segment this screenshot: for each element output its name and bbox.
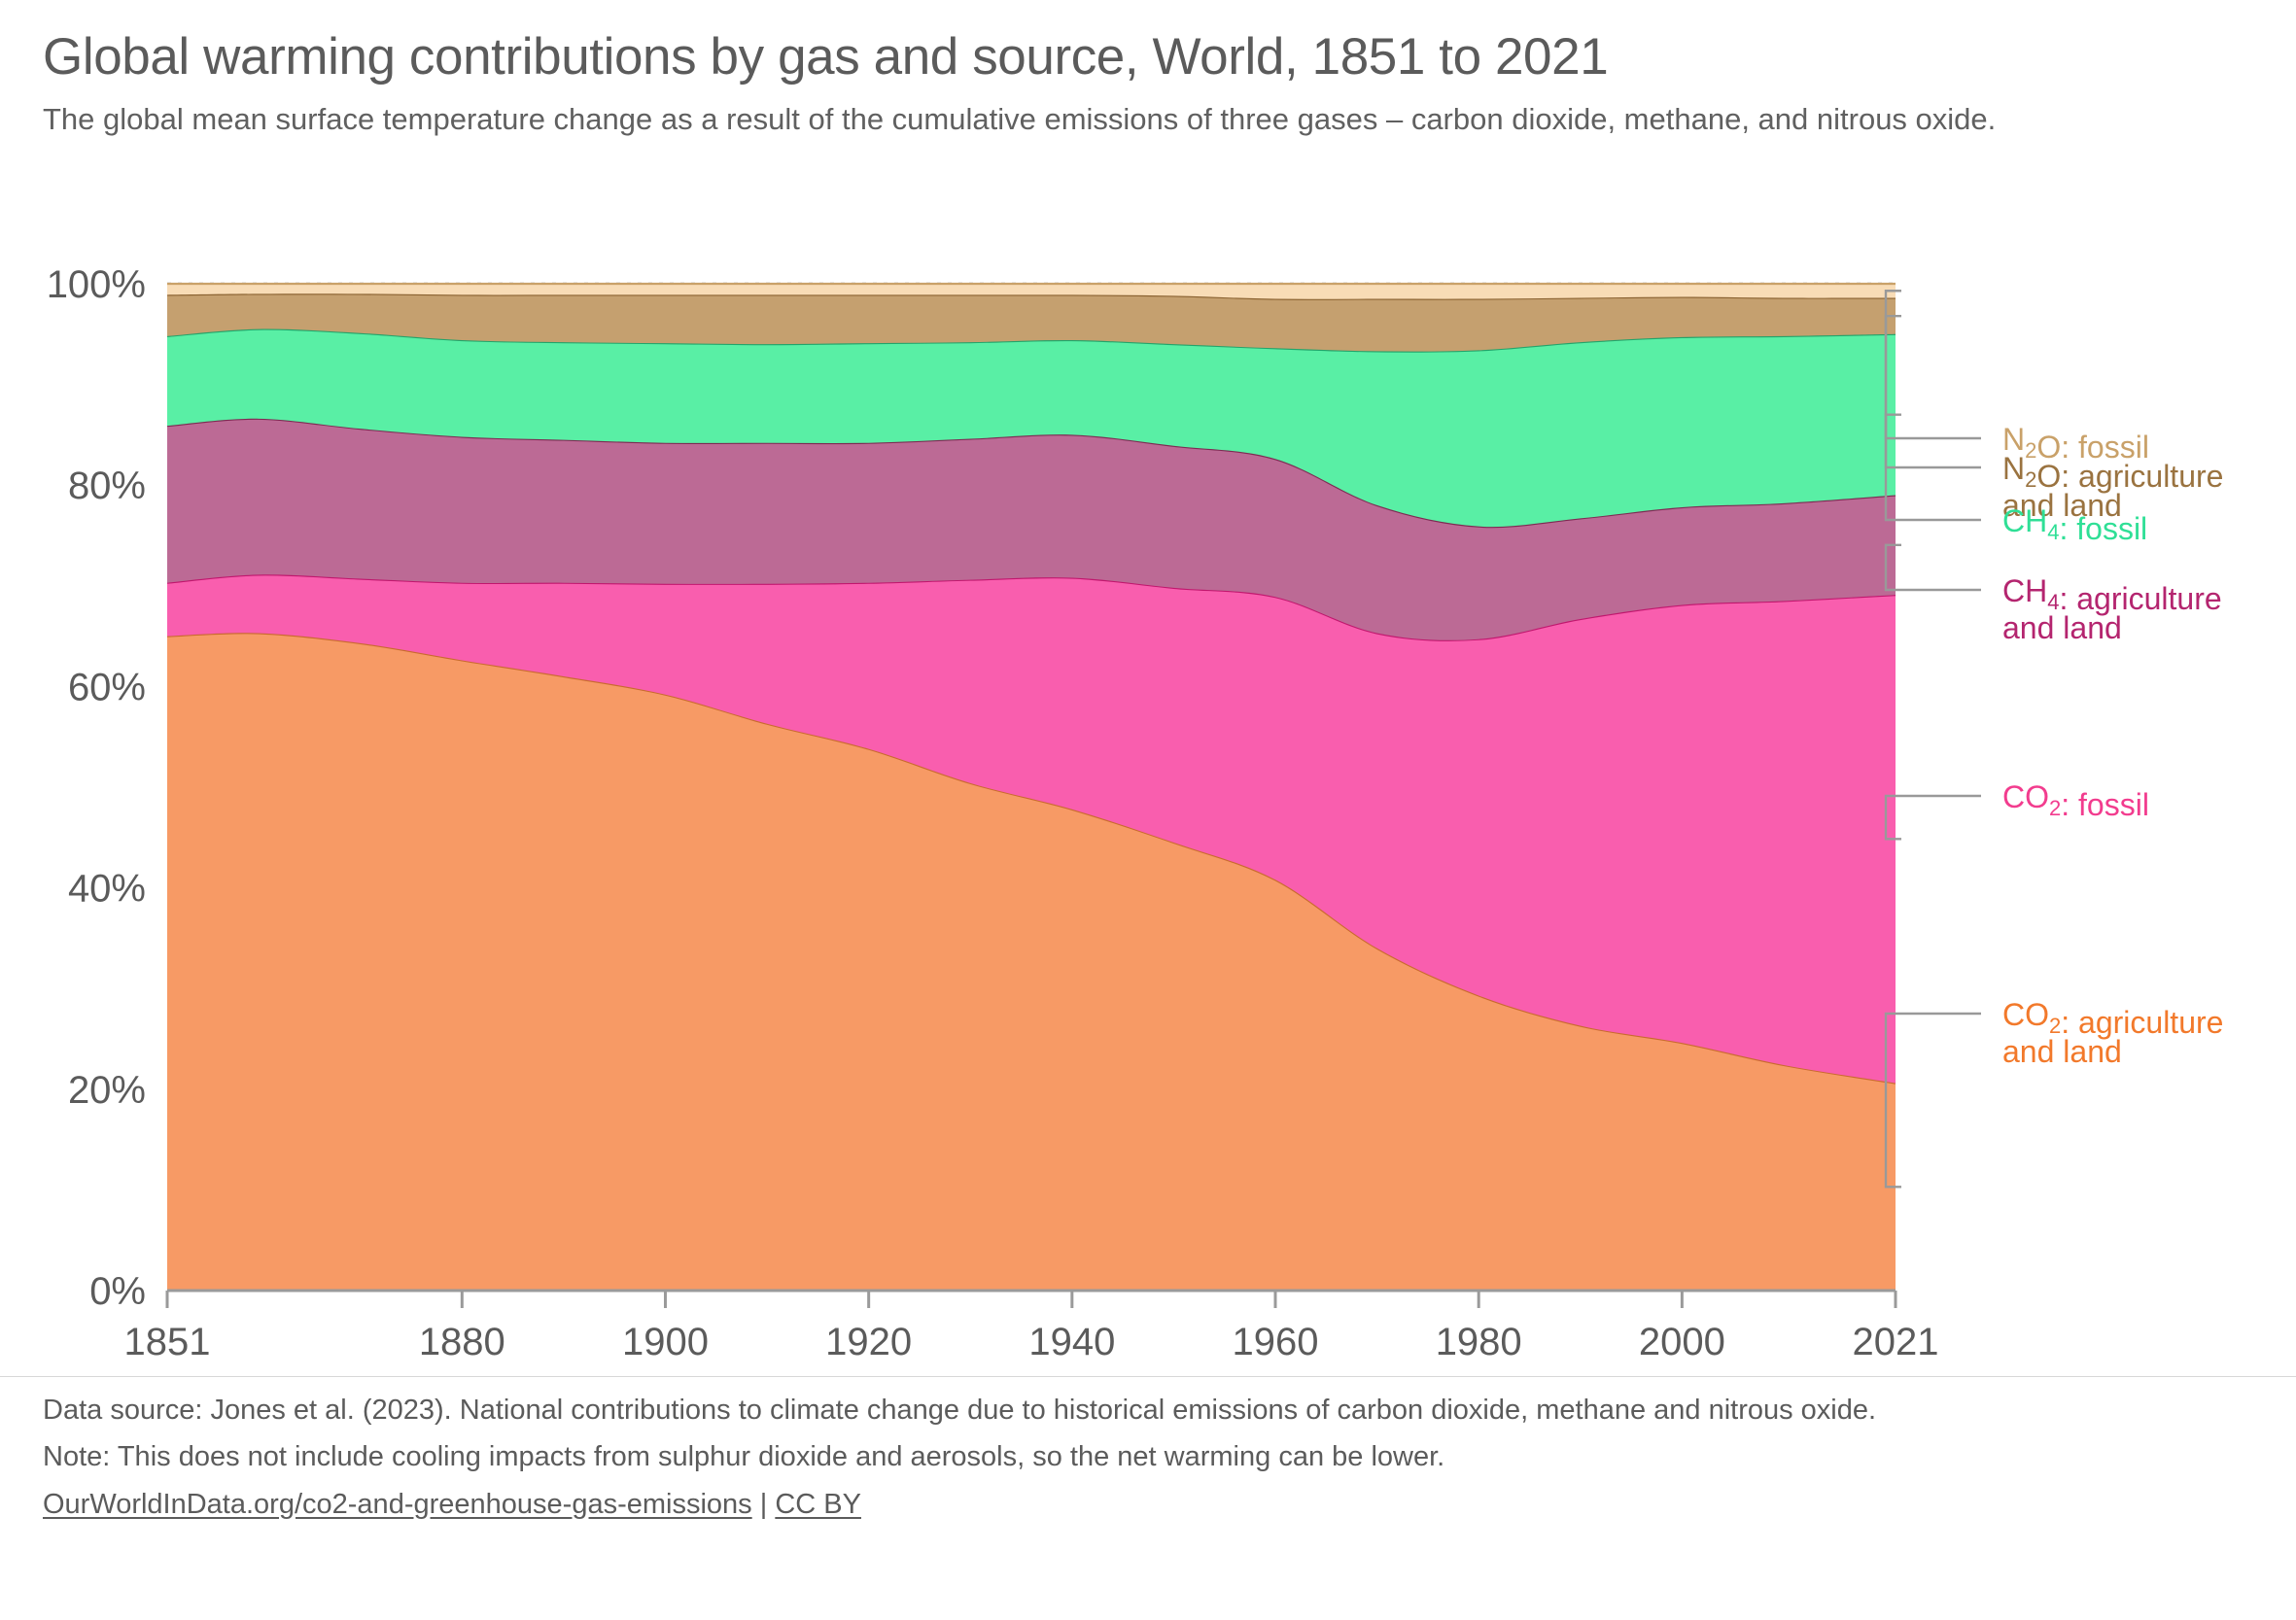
chart-legend[interactable]: N2O: fossilN2O: agricultureand landCH4: … bbox=[1886, 291, 2223, 1187]
footer-divider bbox=[0, 1376, 2296, 1377]
y-axis-tick-label: 20% bbox=[68, 1069, 146, 1112]
owid-link[interactable]: OurWorldInData.org/co2-and-greenhouse-ga… bbox=[43, 1489, 752, 1520]
chart-page: Global warming contributions by gas and … bbox=[0, 0, 2296, 1620]
x-axis-tick-label: 1880 bbox=[419, 1321, 505, 1363]
legend-leader-line bbox=[1886, 291, 1981, 438]
legend-label-line2: and land bbox=[2002, 610, 2122, 645]
chart-footer: Data source: Jones et al. (2023). Nation… bbox=[43, 1392, 2267, 1533]
chart-subtitle: The global mean surface temperature chan… bbox=[43, 100, 2055, 140]
area-series-group[interactable] bbox=[167, 284, 1896, 1291]
note-text: Note: This does not include cooling impa… bbox=[43, 1438, 2267, 1476]
x-axis-tick-label: 2021 bbox=[1853, 1321, 1939, 1363]
x-axis-tick-label: 1851 bbox=[124, 1321, 211, 1363]
x-axis-tick-label: 2000 bbox=[1639, 1321, 1725, 1363]
y-axis-tick-label: 100% bbox=[47, 263, 146, 306]
x-axis-tick-label: 1900 bbox=[622, 1321, 709, 1363]
legend-leader-line bbox=[1886, 316, 1981, 467]
legend-leader-line bbox=[1886, 796, 1981, 839]
legend-label-line2: and land bbox=[2002, 1034, 2122, 1069]
footer-links: OurWorldInData.org/co2-and-greenhouse-ga… bbox=[43, 1486, 2267, 1524]
license-link[interactable]: CC BY bbox=[775, 1489, 861, 1520]
y-axis-tick-label: 0% bbox=[89, 1270, 146, 1313]
x-axis-tick-label: 1980 bbox=[1436, 1321, 1522, 1363]
link-separator: | bbox=[752, 1489, 776, 1520]
data-source-text: Data source: Jones et al. (2023). Nation… bbox=[43, 1392, 2267, 1430]
legend-label[interactable]: CO2: fossil bbox=[2002, 779, 2149, 822]
y-axis-ticks: 0%20%40%60%80%100% bbox=[47, 263, 146, 1313]
chart-header: Global warming contributions by gas and … bbox=[43, 29, 2257, 140]
chart-canvas: 0%20%40%60%80%100% 185118801900192019401… bbox=[0, 248, 2296, 1380]
y-axis-tick-label: 80% bbox=[68, 465, 146, 507]
y-axis-tick-label: 60% bbox=[68, 666, 146, 708]
x-axis-tick-label: 1960 bbox=[1233, 1321, 1319, 1363]
page-title: Global warming contributions by gas and … bbox=[43, 29, 2257, 85]
x-axis-tick-label: 1920 bbox=[825, 1321, 912, 1363]
legend-leader-line bbox=[1886, 1014, 1981, 1187]
y-axis-tick-label: 40% bbox=[68, 868, 146, 911]
x-axis-ticks: 185118801900192019401960198020002021 bbox=[124, 1291, 1939, 1363]
stacked-area-chart[interactable]: 0%20%40%60%80%100% 185118801900192019401… bbox=[0, 248, 2296, 1380]
x-axis-tick-label: 1940 bbox=[1028, 1321, 1115, 1363]
legend-leader-line bbox=[1886, 545, 1981, 590]
